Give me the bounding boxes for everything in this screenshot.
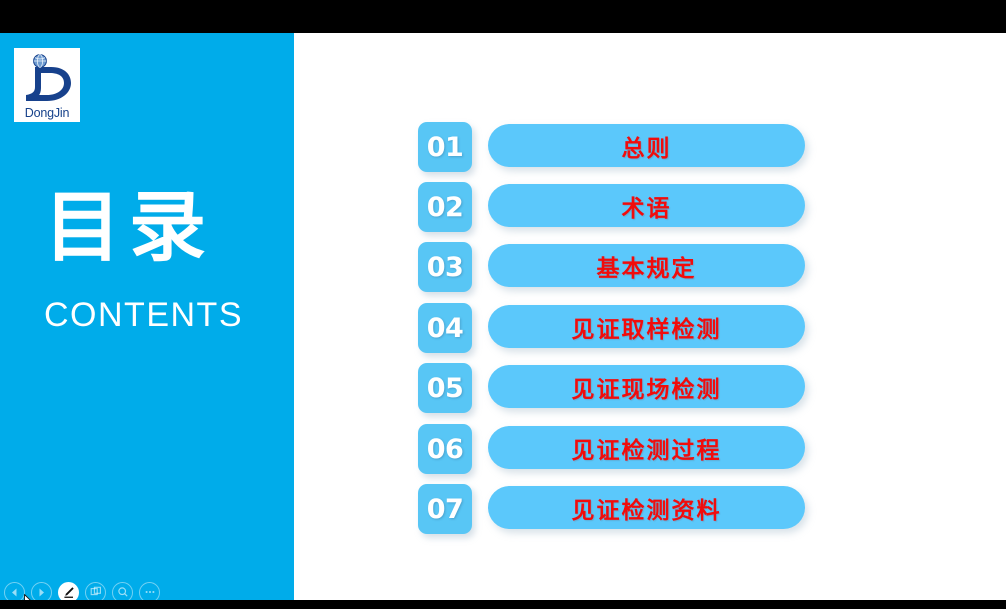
page-title: 目录	[44, 183, 274, 275]
more-options-icon[interactable]	[139, 582, 160, 601]
item-number-badge: 03	[418, 242, 472, 292]
item-pill[interactable]: 术语	[488, 184, 805, 227]
item-pill[interactable]: 见证检测过程	[488, 426, 805, 469]
item-label: 见证现场检测	[572, 370, 722, 404]
item-number-badge: 01	[418, 122, 472, 172]
item-label: 见证检测过程	[572, 431, 722, 465]
slide-navigator-icon[interactable]	[85, 582, 106, 601]
pen-icon[interactable]	[58, 582, 79, 601]
slide-sidebar: DongJin 目录 CONTENTS	[0, 33, 294, 600]
item-pill[interactable]: 见证检测资料	[488, 486, 805, 529]
item-number-badge: 07	[418, 484, 472, 534]
item-label: 术语	[622, 189, 672, 223]
item-label: 基本规定	[597, 249, 697, 283]
slide-canvas: DongJin 目录 CONTENTS	[0, 33, 1006, 600]
item-number: 02	[427, 192, 464, 223]
magnifier-icon[interactable]	[112, 582, 133, 601]
dongjin-logo-mark	[17, 54, 77, 106]
next-arrow-icon[interactable]	[31, 582, 52, 601]
item-number: 04	[427, 313, 464, 344]
item-number: 06	[427, 434, 464, 465]
item-pill[interactable]: 见证取样检测	[488, 305, 805, 348]
item-pill[interactable]: 基本规定	[488, 244, 805, 287]
letterbox-top-bar	[0, 0, 1006, 33]
item-number: 01	[427, 132, 464, 163]
letterbox-bottom-bar	[0, 600, 1006, 609]
page-subtitle: CONTENTS	[44, 295, 284, 335]
logo-wordmark: DongJin	[25, 106, 69, 120]
company-logo: DongJin	[14, 48, 80, 122]
presenter-toolbar[interactable]	[4, 580, 160, 600]
item-pill[interactable]: 见证现场检测	[488, 365, 805, 408]
item-number-badge: 05	[418, 363, 472, 413]
item-number: 05	[427, 373, 464, 404]
item-pill[interactable]: 总则	[488, 124, 805, 167]
item-number-badge: 02	[418, 182, 472, 232]
item-number: 07	[427, 494, 464, 525]
item-number-badge: 04	[418, 303, 472, 353]
item-number: 03	[427, 252, 464, 283]
item-label: 见证检测资料	[572, 491, 722, 525]
previous-arrow-icon[interactable]	[4, 582, 25, 601]
item-label: 见证取样检测	[572, 310, 722, 344]
presentation-screen: DongJin 目录 CONTENTS	[0, 0, 1006, 609]
item-label: 总则	[622, 129, 672, 163]
contents-list: 01 总则 02 术语 03 基本规定	[294, 33, 1006, 600]
item-number-badge: 06	[418, 424, 472, 474]
